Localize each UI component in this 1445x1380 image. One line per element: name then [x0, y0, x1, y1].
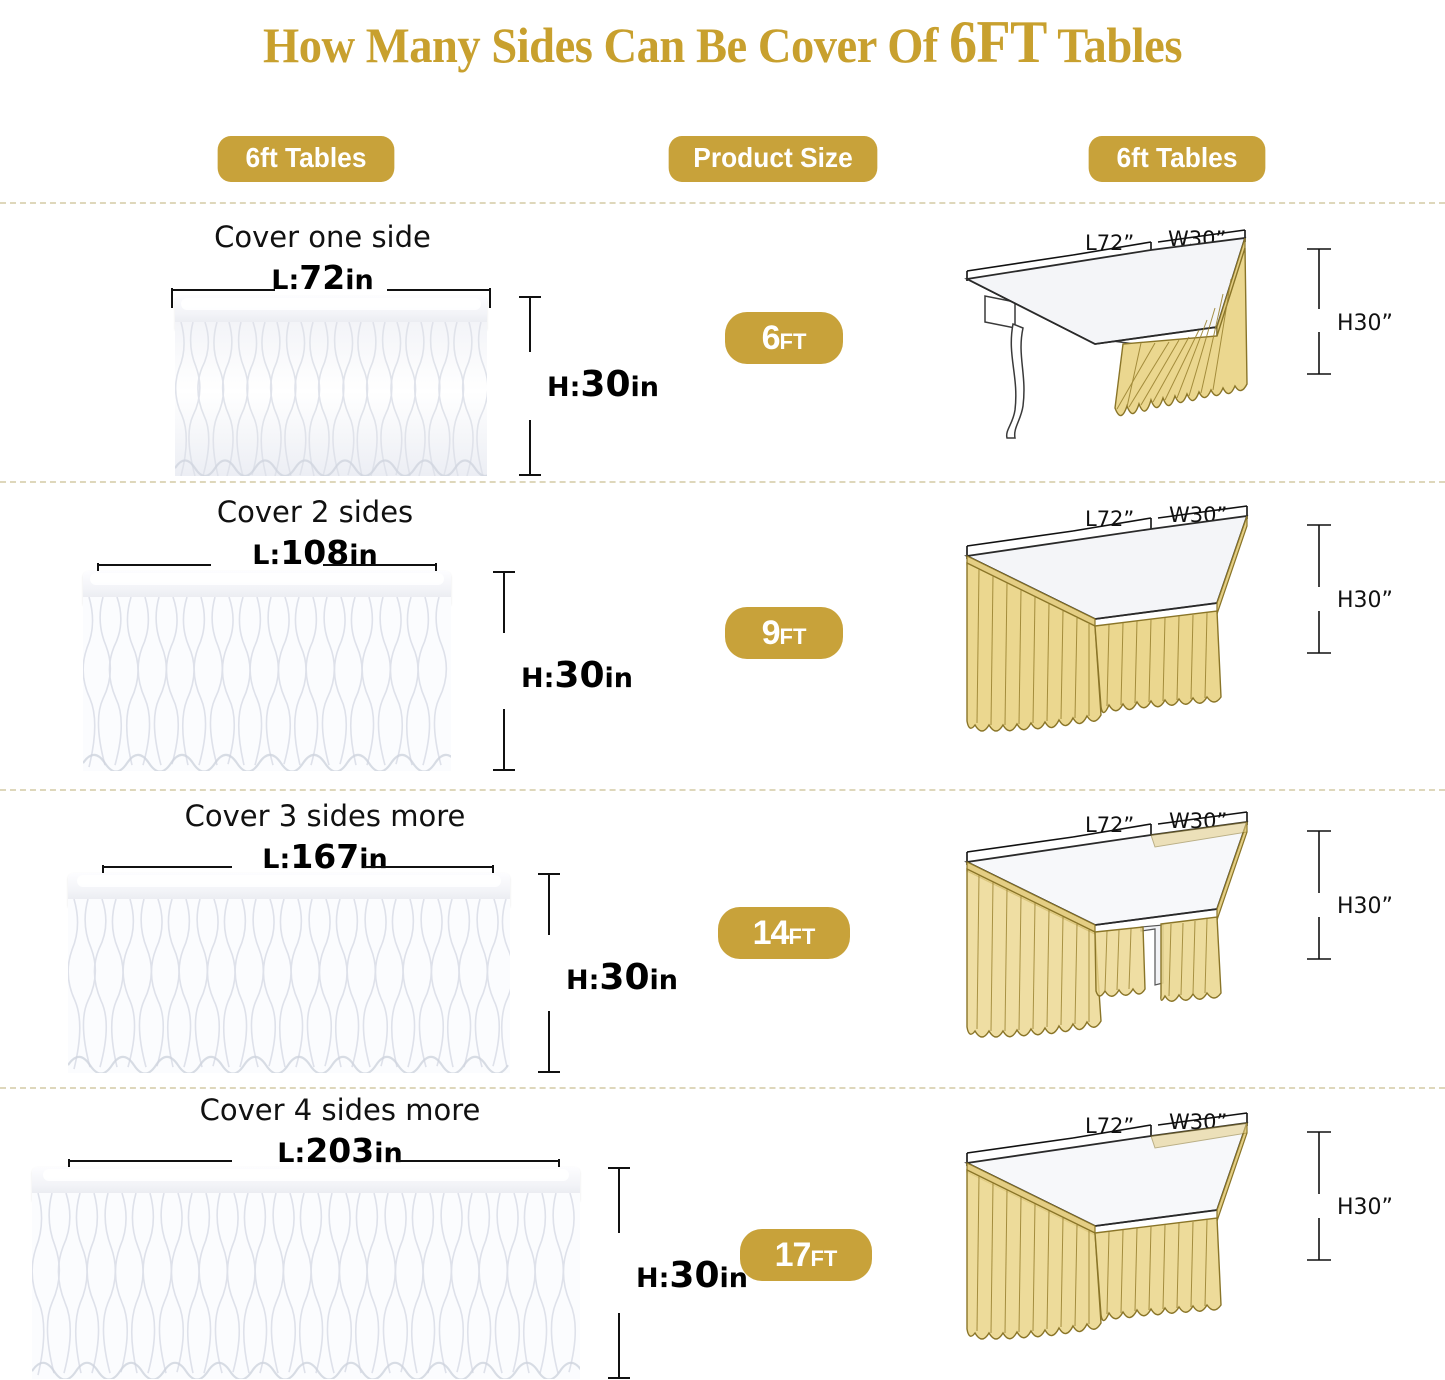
table-row: Cover 2 sides L:108in — [0, 481, 1445, 789]
height-value: 30 — [580, 364, 630, 405]
column-header-right: 6ft Tables — [1089, 136, 1266, 182]
size-unit: FT — [780, 624, 807, 649]
height-value: 30 — [669, 1255, 719, 1296]
table-row: Cover 3 sides more L:167in — [0, 789, 1445, 1087]
diagram-length-label: L72” — [1085, 813, 1134, 837]
height-label: H:30in — [566, 957, 678, 998]
size-unit: FT — [788, 924, 815, 949]
white-table-skirt — [68, 873, 510, 1073]
diagram-height-label: H30” — [1337, 1195, 1393, 1220]
height-prefix: H: — [566, 965, 599, 996]
height-prefix: H: — [636, 1263, 669, 1294]
height-bracket — [608, 1167, 630, 1379]
diagram-length-label: L72” — [1085, 231, 1134, 255]
height-bracket — [538, 873, 560, 1073]
product-size-badge: 6FT — [725, 312, 843, 364]
right-diagram: L72” W30” H30” — [955, 501, 1425, 771]
height-label: H:30in — [636, 1255, 748, 1296]
infographic-page: How Many Sides Can Be Cover Of 6FT Table… — [0, 0, 1445, 1380]
table-row: Cover 4 sides more L:203in — [0, 1087, 1445, 1380]
height-bracket — [493, 571, 515, 771]
diagram-height-label: H30” — [1337, 311, 1393, 336]
size-number: 14 — [753, 914, 789, 952]
row-caption: Cover 3 sides more — [30, 799, 620, 833]
height-prefix: H: — [521, 663, 554, 694]
table-row: Cover one side L:72in — [0, 202, 1445, 481]
left-illustration: Cover one side L:72in — [95, 212, 550, 477]
size-number: 17 — [775, 1236, 811, 1274]
height-label: H:30in — [547, 364, 659, 405]
height-unit: in — [631, 372, 659, 403]
size-number: 9 — [762, 614, 780, 652]
left-illustration: Cover 2 sides L:108in — [55, 489, 575, 783]
left-illustration: Cover 4 sides more L:203in — [10, 1091, 670, 1380]
product-size-badge: 14FT — [718, 907, 850, 959]
right-diagram: L72” W30” H30” — [955, 224, 1425, 474]
height-bracket — [519, 296, 541, 476]
curly-ruffle-texture — [175, 322, 487, 476]
white-table-skirt — [83, 571, 451, 771]
height-label: H:30in — [521, 655, 633, 696]
diagram-length-label: L72” — [1085, 1114, 1134, 1138]
page-title-emphasis: 6FT — [949, 9, 1047, 75]
page-title-tail: Tables — [1057, 17, 1182, 73]
white-table-skirt — [32, 1167, 580, 1379]
diagram-height-label: H30” — [1337, 588, 1393, 613]
height-value: 30 — [599, 957, 649, 998]
row-caption: Cover 4 sides more — [10, 1093, 670, 1127]
size-number: 6 — [762, 319, 780, 357]
curly-ruffle-texture — [68, 899, 510, 1073]
product-size-badge: 9FT — [725, 607, 843, 659]
left-illustration: Cover 3 sides more L:167in — [30, 795, 620, 1083]
page-title: How Many Sides Can Be Cover Of 6FT Table… — [51, 8, 1395, 77]
row-caption: Cover one side — [95, 220, 550, 254]
height-value: 30 — [554, 655, 604, 696]
diagram-height-label: H30” — [1337, 894, 1393, 919]
size-unit: FT — [810, 1246, 837, 1271]
height-unit: in — [650, 965, 678, 996]
height-unit: in — [605, 663, 633, 694]
row-caption: Cover 2 sides — [55, 495, 575, 529]
curly-ruffle-texture — [83, 597, 451, 771]
curly-ruffle-texture — [32, 1193, 580, 1379]
column-header-center: Product Size — [669, 136, 878, 182]
product-size-badge: 17FT — [740, 1229, 872, 1281]
page-title-main: How Many Sides Can Be Cover Of — [263, 17, 938, 73]
column-header-left: 6ft Tables — [218, 136, 395, 182]
size-unit: FT — [780, 329, 807, 354]
white-table-skirt — [175, 296, 487, 476]
right-diagram: L72” W30” H30” — [955, 807, 1425, 1077]
diagram-length-label: L72” — [1085, 507, 1134, 531]
right-diagram: L72” W30” H30” — [955, 1105, 1425, 1375]
height-prefix: H: — [547, 372, 580, 403]
